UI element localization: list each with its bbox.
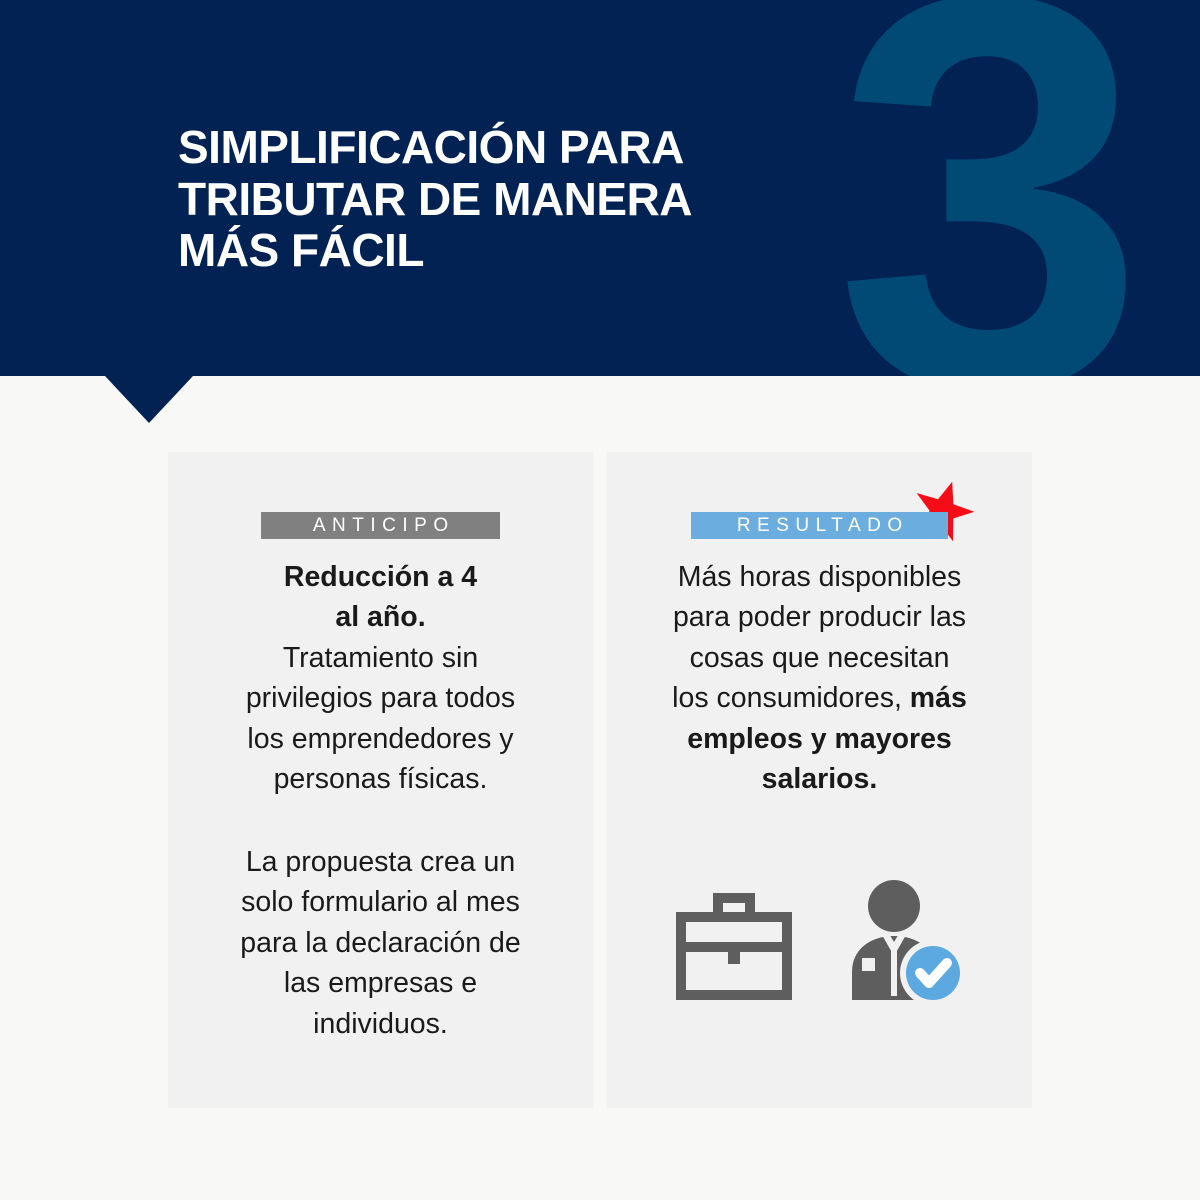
header-notch-triangle: [105, 376, 193, 423]
card-anticipo-paragraph-2: La propuesta crea un solo formulario al …: [240, 842, 520, 1044]
text-line-bold: salarios.: [762, 763, 878, 795]
header-banner: 3 SIMPLIFICACIÓN PARA TRIBUTAR DE MANERA…: [0, 0, 1200, 376]
text-line: los consumidores, más: [672, 678, 967, 718]
text-line: personas físicas.: [246, 759, 515, 799]
text-line-bold: empleos y mayores: [687, 723, 952, 755]
text-line: al año.: [246, 597, 515, 637]
card-anticipo-paragraph-1: Reducción a 4 al año. Tratamiento sin pr…: [246, 557, 515, 800]
text-line: salarios.: [672, 759, 967, 799]
card-anticipo: ANTICIPO Reducción a 4 al año. Tratamien…: [168, 452, 593, 1108]
status-badge-anticipo: ANTICIPO: [261, 512, 500, 539]
card-resultado: RESULTADO Más horas disponibles para pod…: [607, 452, 1032, 1108]
text-line-regular: los consumidores,: [672, 682, 910, 714]
text-line: La propuesta crea un: [240, 842, 520, 882]
status-badge-resultado: RESULTADO: [691, 512, 948, 539]
page-title-line-1: SIMPLIFICACIÓN PARA: [178, 122, 692, 174]
person-verified-icon: [832, 872, 970, 1010]
text-line-bold: al año.: [335, 601, 425, 633]
page-title: SIMPLIFICACIÓN PARA TRIBUTAR DE MANERA M…: [178, 122, 692, 277]
page-title-line-3: MÁS FÁCIL: [178, 225, 692, 277]
step-number: 3: [835, 0, 1138, 376]
text-line: Reducción a 4: [246, 557, 515, 597]
text-line: para la declaración de: [240, 923, 520, 963]
infographic-page: 3 SIMPLIFICACIÓN PARA TRIBUTAR DE MANERA…: [0, 0, 1200, 1200]
card-resultado-icons: [607, 872, 1032, 1010]
text-line: empleos y mayores: [672, 719, 967, 759]
text-line-bold: Reducción a 4: [284, 561, 477, 593]
text-line: Tratamiento sin: [246, 638, 515, 678]
text-line: para poder producir las: [672, 597, 967, 637]
page-title-line-2: TRIBUTAR DE MANERA: [178, 174, 692, 226]
text-line: los emprendedores y: [246, 719, 515, 759]
text-line: Más horas disponibles: [672, 557, 967, 597]
badge-wrap-resultado: RESULTADO: [691, 512, 948, 539]
text-line-bold: más: [910, 682, 967, 714]
briefcase-icon: [670, 882, 798, 1010]
text-line: solo formulario al mes: [240, 882, 520, 922]
text-line: cosas que necesitan: [672, 638, 967, 678]
badge-wrap-anticipo: ANTICIPO: [261, 512, 500, 539]
text-line: las empresas e: [240, 963, 520, 1003]
text-line: privilegios para todos: [246, 678, 515, 718]
text-line: individuos.: [240, 1004, 520, 1044]
cards-container: ANTICIPO Reducción a 4 al año. Tratamien…: [168, 452, 1032, 1108]
card-resultado-paragraph-1: Más horas disponibles para poder produci…: [672, 557, 967, 800]
